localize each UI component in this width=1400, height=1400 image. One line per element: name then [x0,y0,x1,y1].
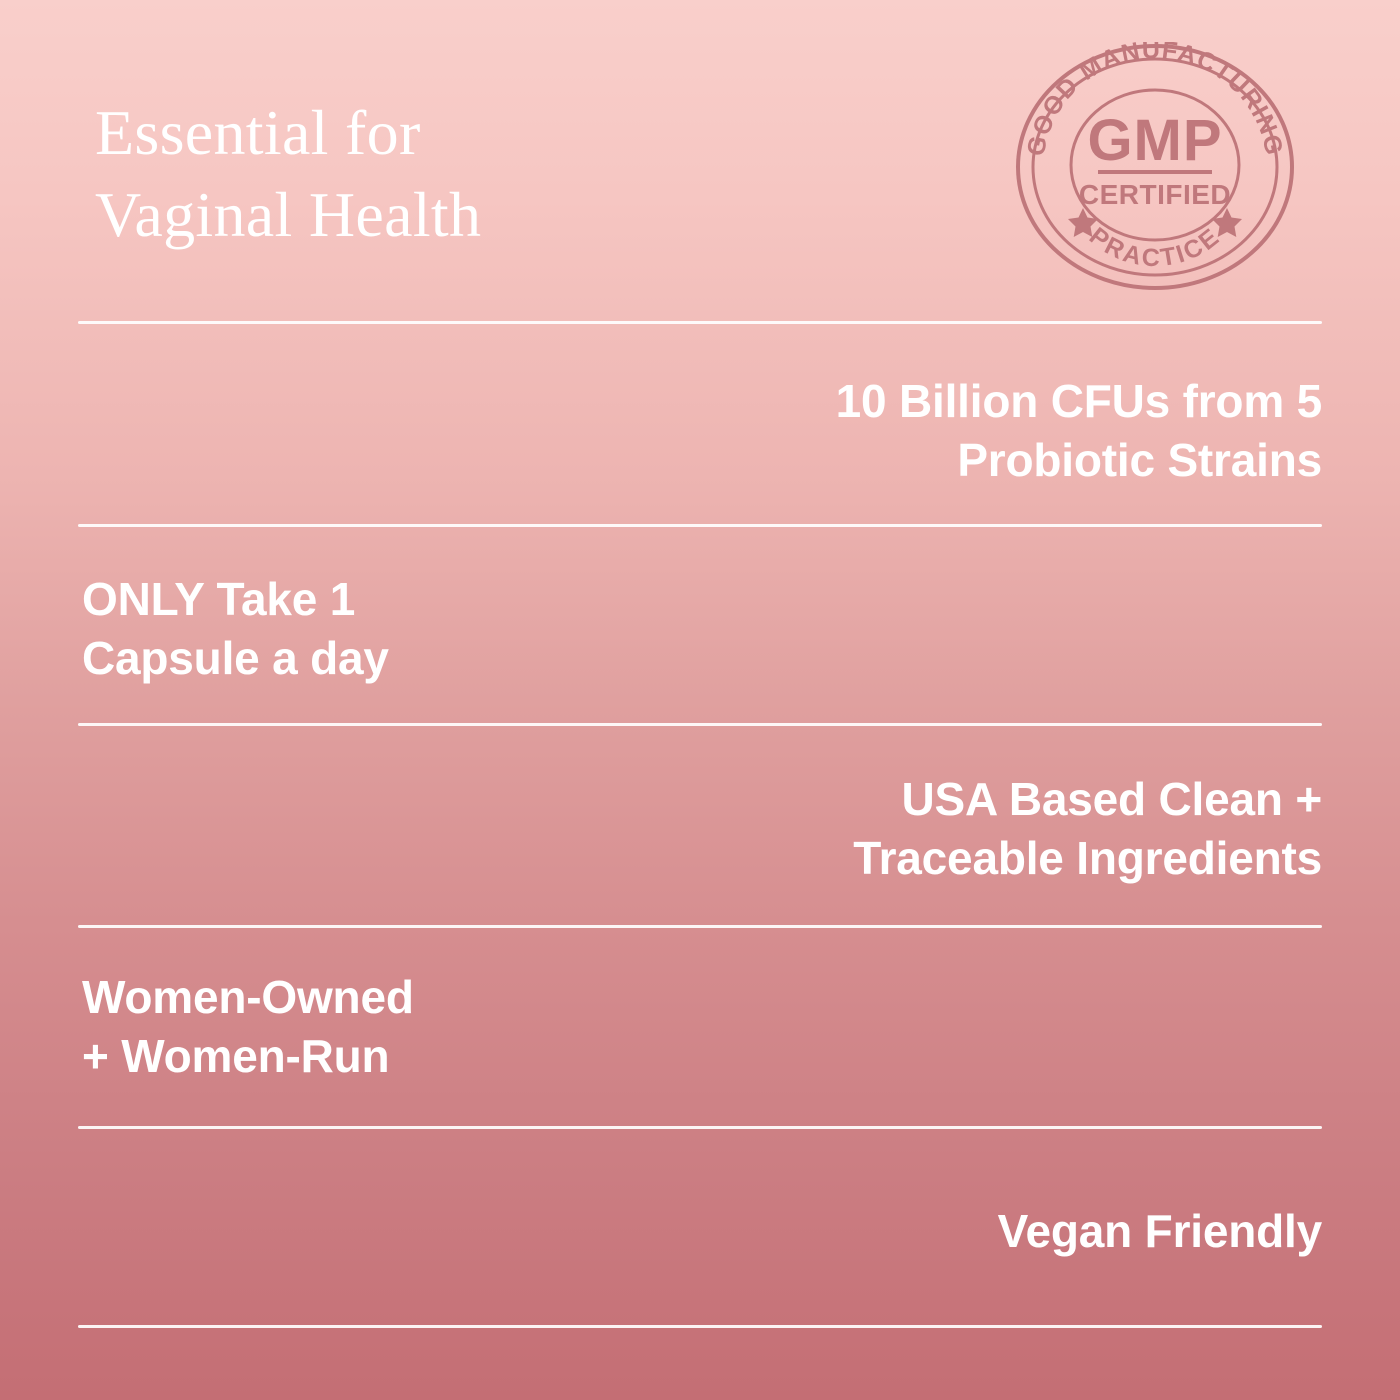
feature-item-vegan: Vegan Friendly [998,1202,1322,1261]
badge-divider [1098,170,1212,174]
divider [78,723,1322,726]
feature-item-ingredients: USA Based Clean + Traceable Ingredients [853,770,1322,888]
gmp-certified-badge: GOOD MANUFACTURING PRACTICE GMP CERTIFIE… [1013,42,1297,292]
divider [78,1325,1322,1328]
badge-sub-text: CERTIFIED [1079,179,1231,210]
divider [78,321,1322,324]
feature-item-cfus: 10 Billion CFUs from 5 Probiotic Strains [836,372,1322,490]
feature-item-dosage: ONLY Take 1 Capsule a day [82,570,389,688]
divider [78,524,1322,527]
page-title: Essential for Vaginal Health [95,92,481,256]
feature-item-women-owned: Women-Owned + Women-Run [82,968,414,1086]
divider [78,1126,1322,1129]
badge-main-text: GMP [1087,108,1222,173]
divider [78,925,1322,928]
product-feature-card: Essential for Vaginal Health GOOD MANUFA… [0,0,1400,1400]
